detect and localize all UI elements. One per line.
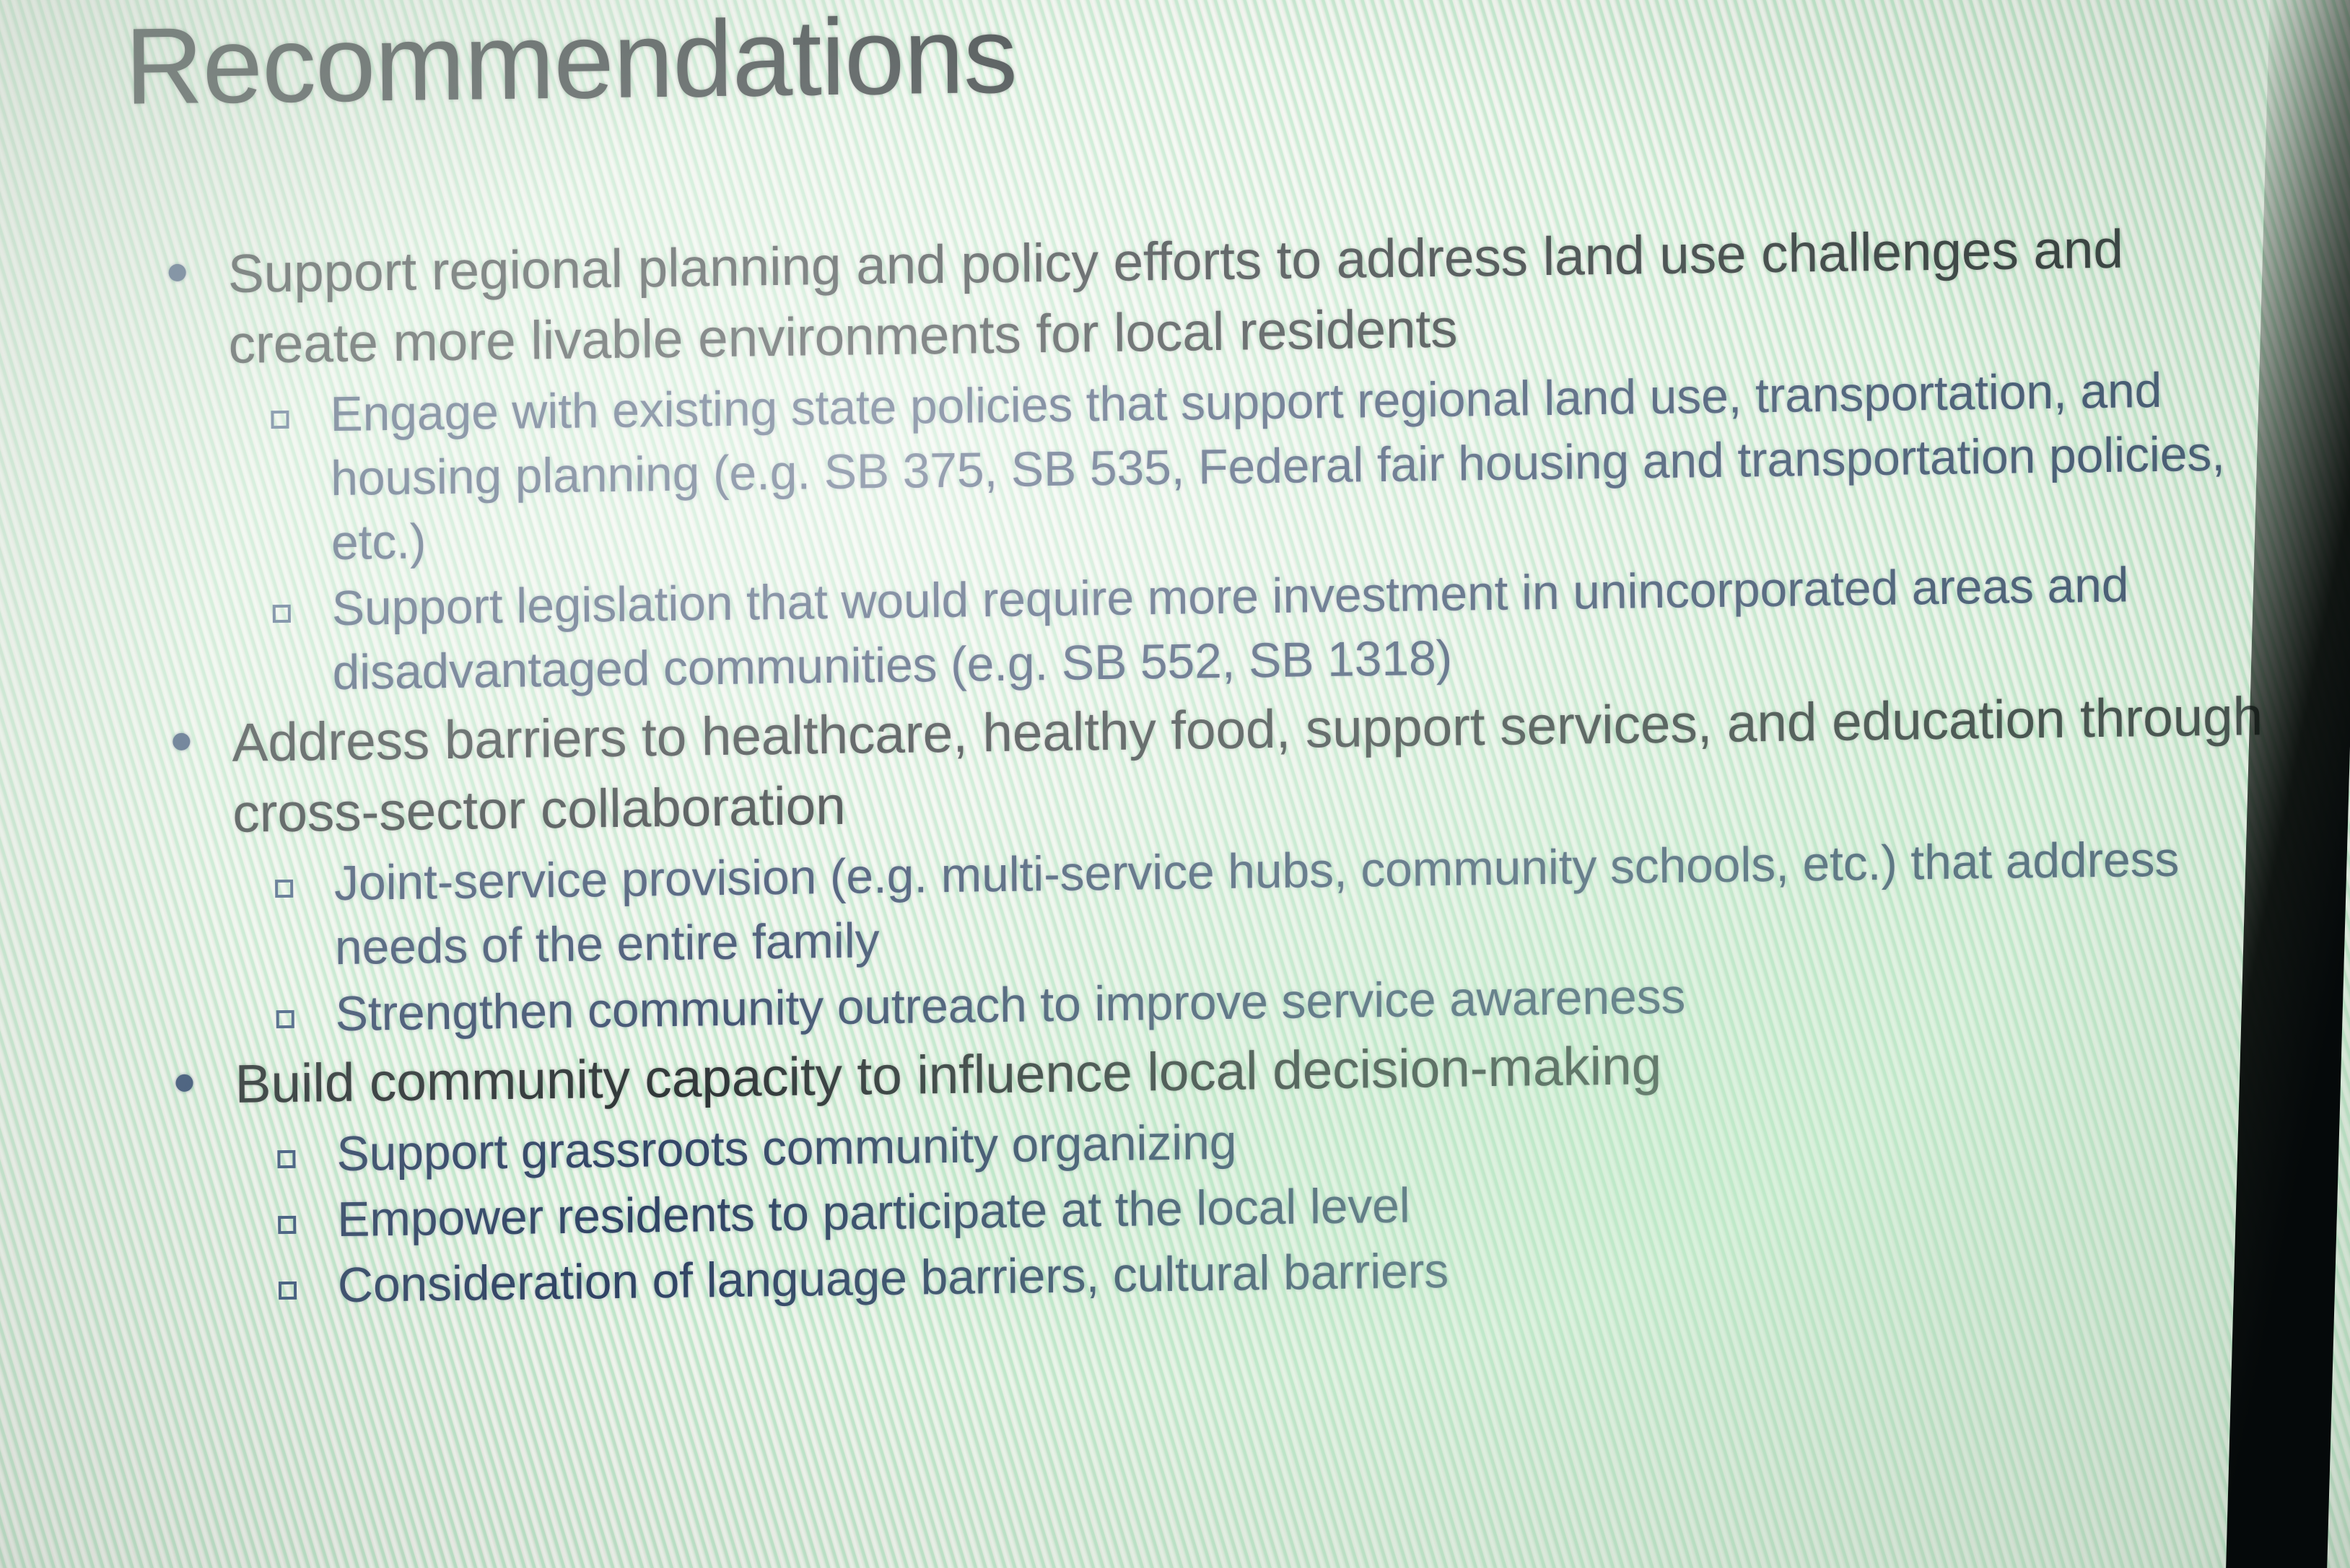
list-item: Support legislation that would require m… [151, 551, 2288, 708]
filled-round-bullet-icon [172, 733, 190, 750]
list-item: Joint-service provision (e.g. multi-serv… [154, 826, 2291, 983]
list-item-text: Support legislation that would require m… [331, 551, 2288, 706]
list-item-text: Support regional planning and policy eff… [227, 212, 2285, 380]
page-title: Recommendations [125, 0, 1018, 125]
hollow-square-bullet-icon [277, 1150, 295, 1168]
hollow-square-bullet-icon [278, 1216, 296, 1234]
hollow-square-bullet-icon [275, 880, 293, 898]
hollow-square-bullet-icon [279, 1282, 297, 1300]
bullet-list: Support regional planning and policy eff… [148, 212, 2294, 1322]
list-item-text: Engage with existing state policies that… [330, 357, 2287, 576]
hollow-square-bullet-icon [276, 1009, 294, 1028]
list-item: Support regional planning and policy eff… [148, 212, 2285, 381]
list-item-text: Address barriers to healthcare, healthy … [232, 681, 2289, 849]
list-item-text: Joint-service provision (e.g. multi-serv… [334, 826, 2291, 981]
list-item: Address barriers to healthcare, healthy … [152, 681, 2289, 850]
list-item: Engage with existing state policies that… [149, 357, 2287, 578]
hollow-square-bullet-icon [271, 411, 289, 429]
slide-photograph: Recommendations Support regional plannin… [0, 0, 2350, 1568]
filled-round-bullet-icon [169, 264, 186, 281]
presentation-slide: Recommendations Support regional plannin… [0, 0, 2350, 1568]
filled-round-bullet-icon [175, 1074, 193, 1091]
hollow-square-bullet-icon [273, 605, 291, 623]
